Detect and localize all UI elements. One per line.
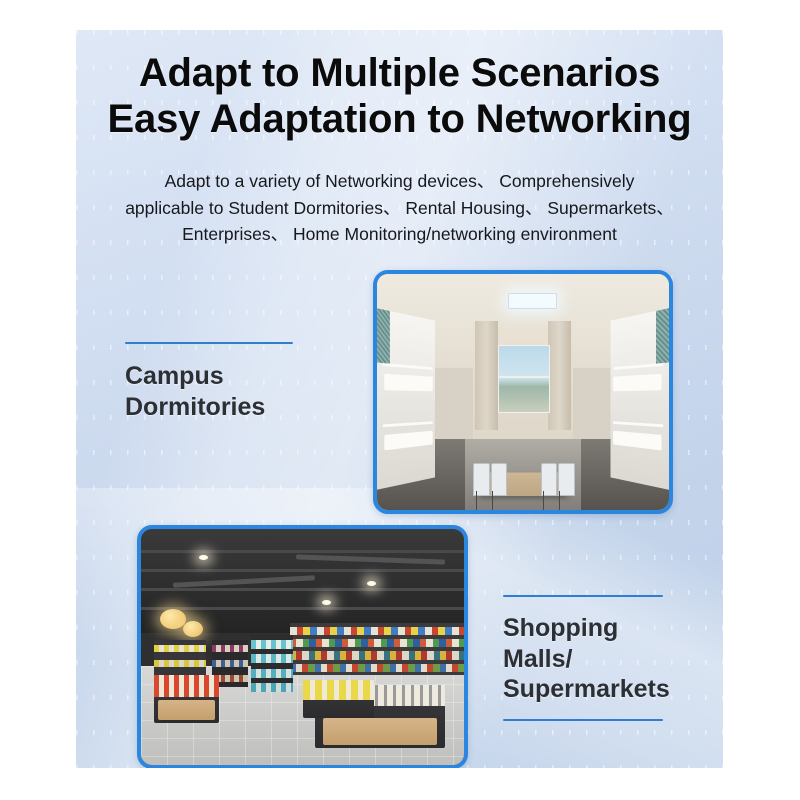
market-left-wall-row-2 xyxy=(154,660,206,667)
market-aisle-left-row-1 xyxy=(212,645,248,653)
scenario-label-text-market: Shopping Malls/ Supermarkets xyxy=(503,613,683,705)
market-display-bin-mid xyxy=(303,680,374,718)
dorm-chair-right-2 xyxy=(558,463,575,496)
dorm-bunk-bed-right xyxy=(611,307,669,491)
market-lantern-2 xyxy=(183,621,203,637)
market-aisle-row-1 xyxy=(251,640,293,649)
scenario-label-text-campus: Campus Dormitories xyxy=(125,361,315,422)
dorm-window-mullion xyxy=(499,376,549,378)
page-subtitle: Adapt to a variety of Networking devices… xyxy=(98,168,701,248)
market-aisle-row-3 xyxy=(251,669,293,678)
scenario-photo-shopping-malls-supermarkets xyxy=(137,525,468,768)
dorm-curtain-left xyxy=(475,321,498,430)
dorm-bed-rail-right-lower xyxy=(613,421,663,427)
dorm-chair-legs-left xyxy=(476,491,493,510)
market-product-row-2 xyxy=(290,639,464,647)
market-aisle-row-4 xyxy=(251,683,293,692)
label-rule-top-market xyxy=(503,595,663,597)
dorm-mattress-left-lower xyxy=(384,431,433,451)
subtitle-line-3: Enterprises、 Home Monitoring/networking … xyxy=(98,221,701,248)
supermarket-photo xyxy=(141,529,464,765)
headline-line-2: Easy Adaptation to Networking xyxy=(76,96,723,142)
market-display-bin-left xyxy=(154,675,219,722)
dorm-bed-rail-left-upper xyxy=(383,363,433,370)
dorm-mattress-right-upper xyxy=(613,374,662,391)
dorm-mesh-panel-left xyxy=(377,307,390,364)
dormitory-photo xyxy=(377,274,669,510)
market-spotlight-3 xyxy=(367,581,376,586)
subtitle-line-2: applicable to Student Dormitories、 Renta… xyxy=(98,195,701,222)
subtitle-line-1: Adapt to a variety of Networking devices… xyxy=(98,168,701,195)
market-spotlight-1 xyxy=(199,555,208,560)
market-ceiling-beam-1 xyxy=(141,550,464,553)
market-bin-mid-products xyxy=(303,680,374,700)
promo-graphic: Adapt to Multiple Scenarios Easy Adaptat… xyxy=(0,0,800,800)
market-bin-left-panel xyxy=(158,700,215,720)
dorm-bed-rail-left-lower xyxy=(383,421,433,427)
page-title: Adapt to Multiple Scenarios Easy Adaptat… xyxy=(76,50,723,143)
label-rule-top-campus xyxy=(125,342,293,344)
scenario-label-shopping-malls-supermarkets: Shopping Malls/ Supermarkets xyxy=(503,595,683,721)
dorm-bed-rail-right-upper xyxy=(613,363,663,370)
headline-line-1: Adapt to Multiple Scenarios xyxy=(76,50,723,96)
market-ceiling-beam-2 xyxy=(141,569,464,572)
market-bin-right-panel xyxy=(323,718,437,745)
market-shelf-back-wall xyxy=(290,623,464,675)
market-shelf-aisle-center xyxy=(251,635,293,692)
market-ceiling-beam-4 xyxy=(141,607,464,610)
dorm-mesh-panel-right xyxy=(656,307,669,364)
market-product-row-4 xyxy=(290,664,464,672)
market-ceiling-beam-3 xyxy=(141,588,464,591)
market-product-row-1 xyxy=(290,627,464,635)
dormitory-illustration xyxy=(377,274,669,510)
label-rule-bottom-market xyxy=(503,719,663,721)
content-panel: Adapt to Multiple Scenarios Easy Adaptat… xyxy=(76,30,723,768)
scenario-photo-campus-dormitories xyxy=(373,270,673,514)
dorm-mattress-left-upper xyxy=(384,374,433,391)
dorm-mattress-right-lower xyxy=(613,431,662,451)
dorm-chair-left-2 xyxy=(491,463,508,496)
market-aisle-row-2 xyxy=(251,654,293,663)
scenario-label-campus-dormitories: Campus Dormitories xyxy=(125,342,315,422)
dorm-bunk-bed-left xyxy=(377,307,435,491)
dorm-curtain-right xyxy=(548,321,571,430)
dorm-ceiling-light-icon xyxy=(508,293,557,309)
market-spotlight-2 xyxy=(322,600,331,605)
supermarket-illustration xyxy=(141,529,464,765)
market-product-row-3 xyxy=(290,651,464,659)
dorm-chair-legs-right xyxy=(543,491,560,510)
market-left-wall-row-1 xyxy=(154,645,206,652)
market-aisle-left-row-2 xyxy=(212,660,248,668)
market-bin-left-products xyxy=(154,675,219,697)
dorm-window xyxy=(498,345,550,413)
